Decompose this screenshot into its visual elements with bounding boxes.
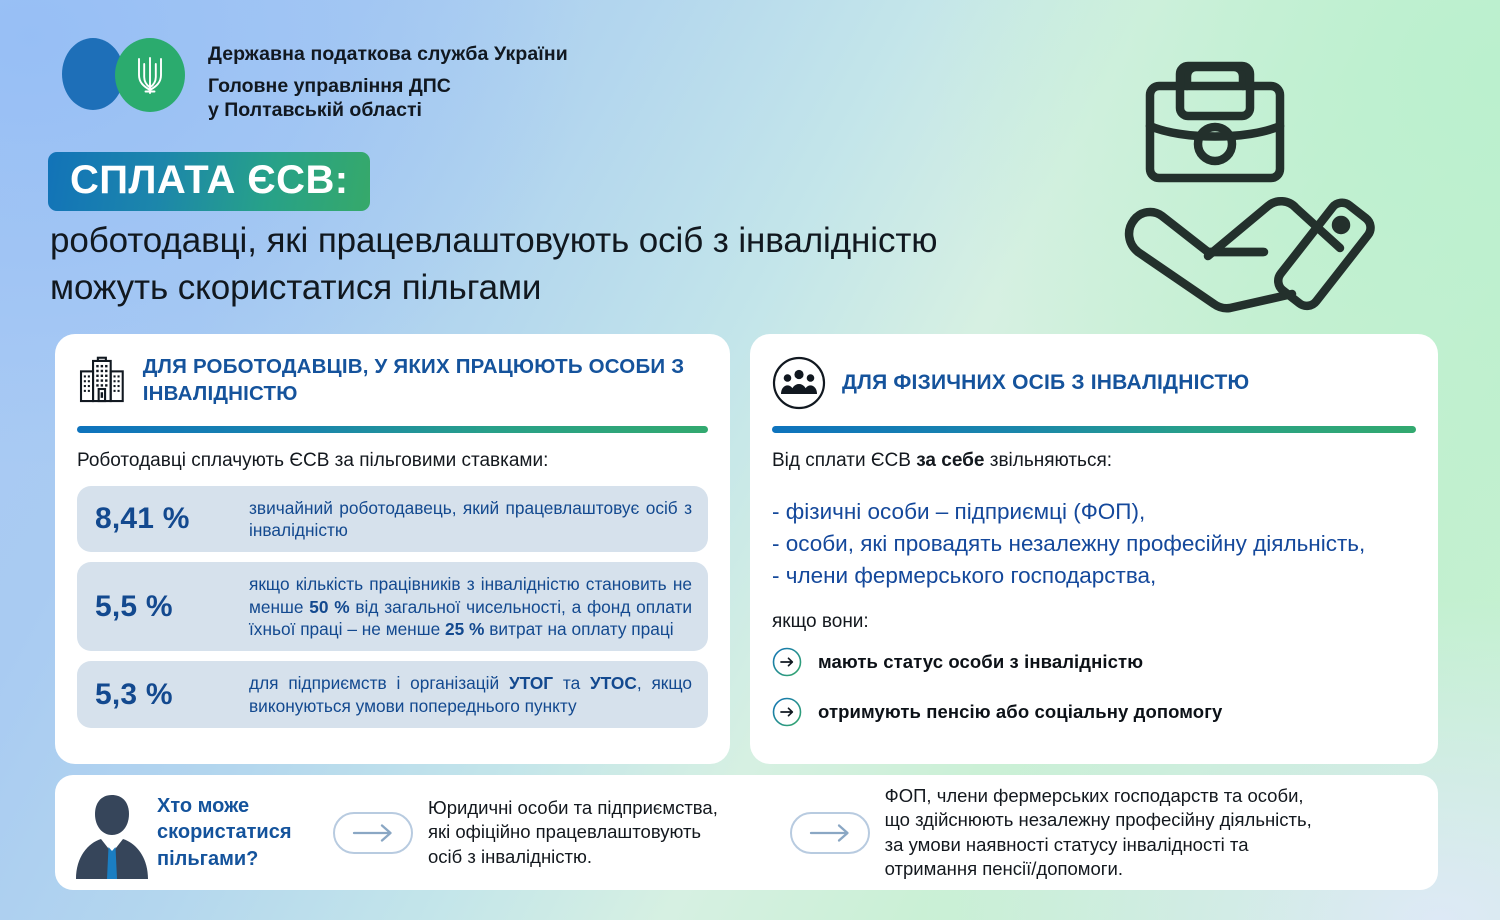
arrow-right-circle-icon [772, 697, 802, 727]
title-subtitle: роботодавці, які працевлаштовують осіб з… [50, 218, 950, 311]
condition-label: якщо вони: [772, 611, 1416, 633]
group-of-people-icon [772, 356, 826, 410]
arrow-right-circle-icon [772, 647, 802, 677]
individuals-card-divider [772, 426, 1416, 433]
list-item: - фізичні особи – підприємці (ФОП), [772, 496, 1416, 528]
rate-row: 5,5 % якщо кількість працівників з інвал… [77, 562, 708, 651]
individuals-card-heading: ДЛЯ ФІЗИЧНИХ ОСІБ З ІНВАЛІДНІСТЮ [842, 369, 1249, 396]
title-badge: СПЛАТА ЄСВ: [48, 152, 370, 211]
list-item: - члени фермерського господарства, [772, 560, 1416, 592]
list-item: мають статус особи з інвалідністю [772, 647, 1416, 677]
employers-card-divider [77, 426, 708, 433]
condition-list: мають статус особи з інвалідністю отриму… [772, 647, 1416, 727]
rate-description: якщо кількість працівників з інвалідніст… [249, 573, 692, 640]
condition-label-text: отримують пенсію або соціальну допомогу [818, 701, 1222, 723]
briefcase-in-hand-icon [1112, 48, 1392, 313]
office-buildings-icon [77, 350, 127, 412]
list-item: отримують пенсію або соціальну допомогу [772, 697, 1416, 727]
org-line-2: Головне управління ДПС [208, 74, 568, 99]
rate-list: 8,41 % звичайний роботодавець, який прац… [77, 486, 708, 728]
individuals-card-header: ДЛЯ ФІЗИЧНИХ ОСІБ З ІНВАЛІДНІСТЮ [750, 334, 1438, 410]
exempt-list: - фізичні особи – підприємці (ФОП), - ос… [772, 496, 1416, 593]
trident-icon [135, 53, 165, 97]
rate-row: 5,3 % для підприємств і організацій УТОГ… [77, 661, 708, 728]
rate-value: 5,5 % [95, 590, 245, 624]
green-circle-trident-icon [115, 38, 185, 112]
long-arrow-right-icon [332, 810, 414, 856]
rate-value: 8,41 % [95, 502, 245, 536]
rate-value: 5,3 % [95, 678, 245, 712]
long-arrow-right-icon [789, 810, 871, 856]
businessman-avatar-icon [73, 787, 151, 879]
organization-logo-block: Державна податкова служба України Головн… [62, 36, 568, 123]
summary-answer-left: Юридичні особи та підприємства, які офіц… [428, 796, 789, 869]
employers-card: ДЛЯ РОБОТОДАВЦІВ, У ЯКИХ ПРАЦЮЮТЬ ОСОБИ … [55, 334, 730, 764]
summary-question: Хто може скористатися пільгами? [157, 793, 332, 872]
org-line-3: у Полтавській області [208, 98, 568, 123]
organization-name: Державна податкова служба України Головн… [208, 36, 568, 123]
employers-card-header: ДЛЯ РОБОТОДАВЦІВ, У ЯКИХ ПРАЦЮЮТЬ ОСОБИ … [55, 334, 730, 412]
summary-bar: Хто може скористатися пільгами? Юридичні… [55, 775, 1438, 890]
summary-answer-right: ФОП, члени фермерських господарств та ос… [885, 784, 1438, 882]
rate-description: для підприємств і організацій УТОГ та УТ… [249, 672, 692, 717]
individuals-card-intro: Від сплати ЄСВ за себе звільняються: [772, 449, 1416, 474]
employers-card-heading: ДЛЯ РОБОТОДАВЦІВ, У ЯКИХ ПРАЦЮЮТЬ ОСОБИ … [143, 354, 706, 407]
condition-label-text: мають статус особи з інвалідністю [818, 651, 1143, 673]
org-line-1: Державна податкова служба України [208, 42, 568, 67]
logo-marks [62, 36, 194, 114]
list-item: - особи, які провадять незалежну професі… [772, 528, 1416, 560]
employers-card-intro: Роботодавці сплачують ЄСВ за пільговими … [77, 449, 708, 474]
rate-description: звичайний роботодавець, який працевлашто… [249, 497, 692, 542]
rate-row: 8,41 % звичайний роботодавець, який прац… [77, 486, 708, 553]
individuals-card: ДЛЯ ФІЗИЧНИХ ОСІБ З ІНВАЛІДНІСТЮ Від спл… [750, 334, 1438, 764]
